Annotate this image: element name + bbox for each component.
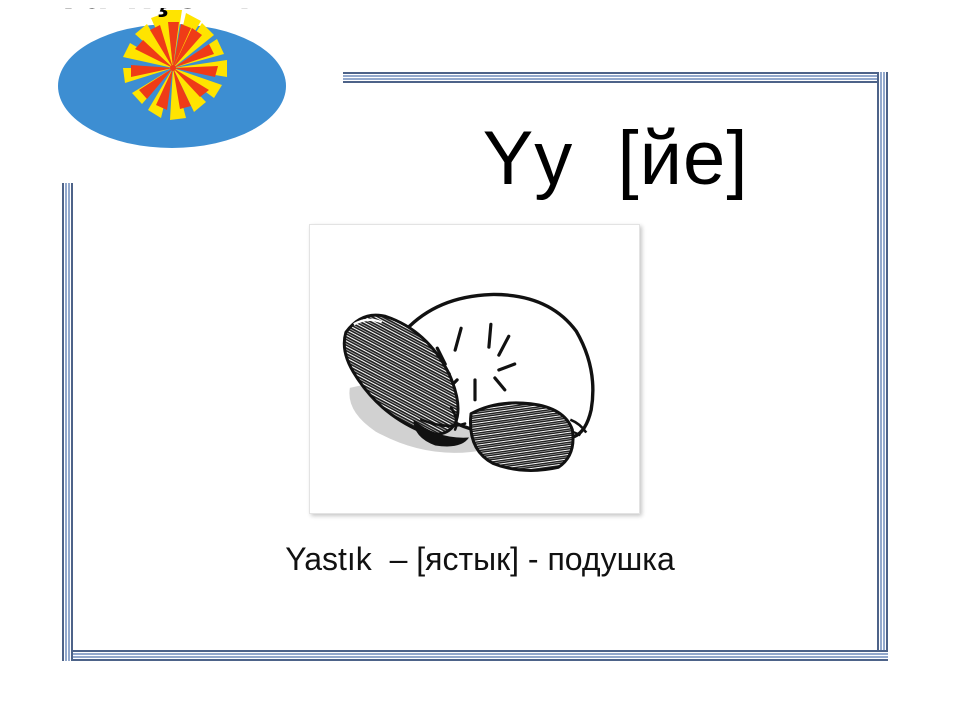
slide-canvas: Türkçemiz Yy [йе] [0,0,960,720]
frame-border-bottom [62,650,888,661]
slide-title: Yy [йе] [343,119,888,199]
turkcemiz-logo: Türkçemiz [55,8,300,183]
frame-border-left [62,183,73,661]
pillow-illustration [309,224,640,514]
frame-border-top [343,72,888,83]
dark-pillow-front [470,403,573,471]
slide-caption: Yastık – [ястык] - подушка [150,541,810,578]
logo-wordmark: Türkçemiz [55,8,273,18]
